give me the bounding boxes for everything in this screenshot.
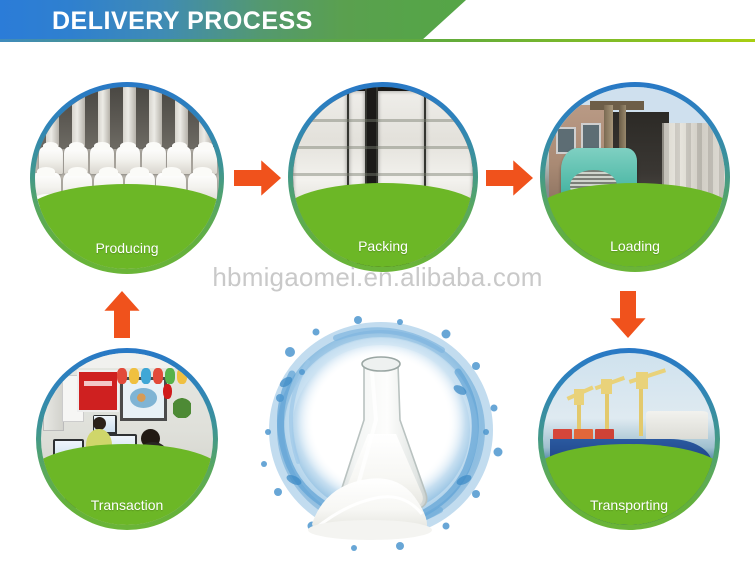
step-label-band (41, 467, 213, 525)
office-workstations-photo: Transaction (41, 353, 213, 525)
step-label-transporting: Transporting (543, 497, 715, 513)
arrow-right-icon-packing-to-loading (486, 158, 533, 198)
step-card-producing[interactable]: Producing (30, 82, 224, 274)
step-label-packing: Packing (293, 238, 473, 254)
water-splash-flask-photo (250, 312, 512, 559)
arrow-right-icon-producing-to-packing (234, 158, 281, 198)
step-label-band (545, 206, 725, 267)
wrapped-pallets-photo: Packing (293, 87, 473, 267)
page-title: DELIVERY PROCESS (52, 7, 313, 36)
forklift-container-loading-photo: Loading (545, 87, 725, 267)
header-banner: DELIVERY PROCESS (0, 0, 755, 46)
warehouse-bulk-bags-photo: Producing (35, 87, 219, 269)
arrow-down-icon-loading-to-transporting (608, 291, 648, 338)
step-label-producing: Producing (35, 240, 219, 256)
header-underline (0, 39, 755, 42)
step-card-transporting[interactable]: Transporting (538, 348, 720, 530)
step-card-loading[interactable]: Loading (540, 82, 730, 272)
step-card-packing[interactable]: Packing (288, 82, 478, 272)
arrow-up-icon-transaction-to-producing (102, 291, 142, 338)
step-label-band (35, 207, 219, 269)
step-label-loading: Loading (545, 238, 725, 254)
step-label-transaction: Transaction (41, 497, 213, 513)
step-card-transaction[interactable]: Transaction (36, 348, 218, 530)
container-ship-photo: Transporting (543, 353, 715, 525)
